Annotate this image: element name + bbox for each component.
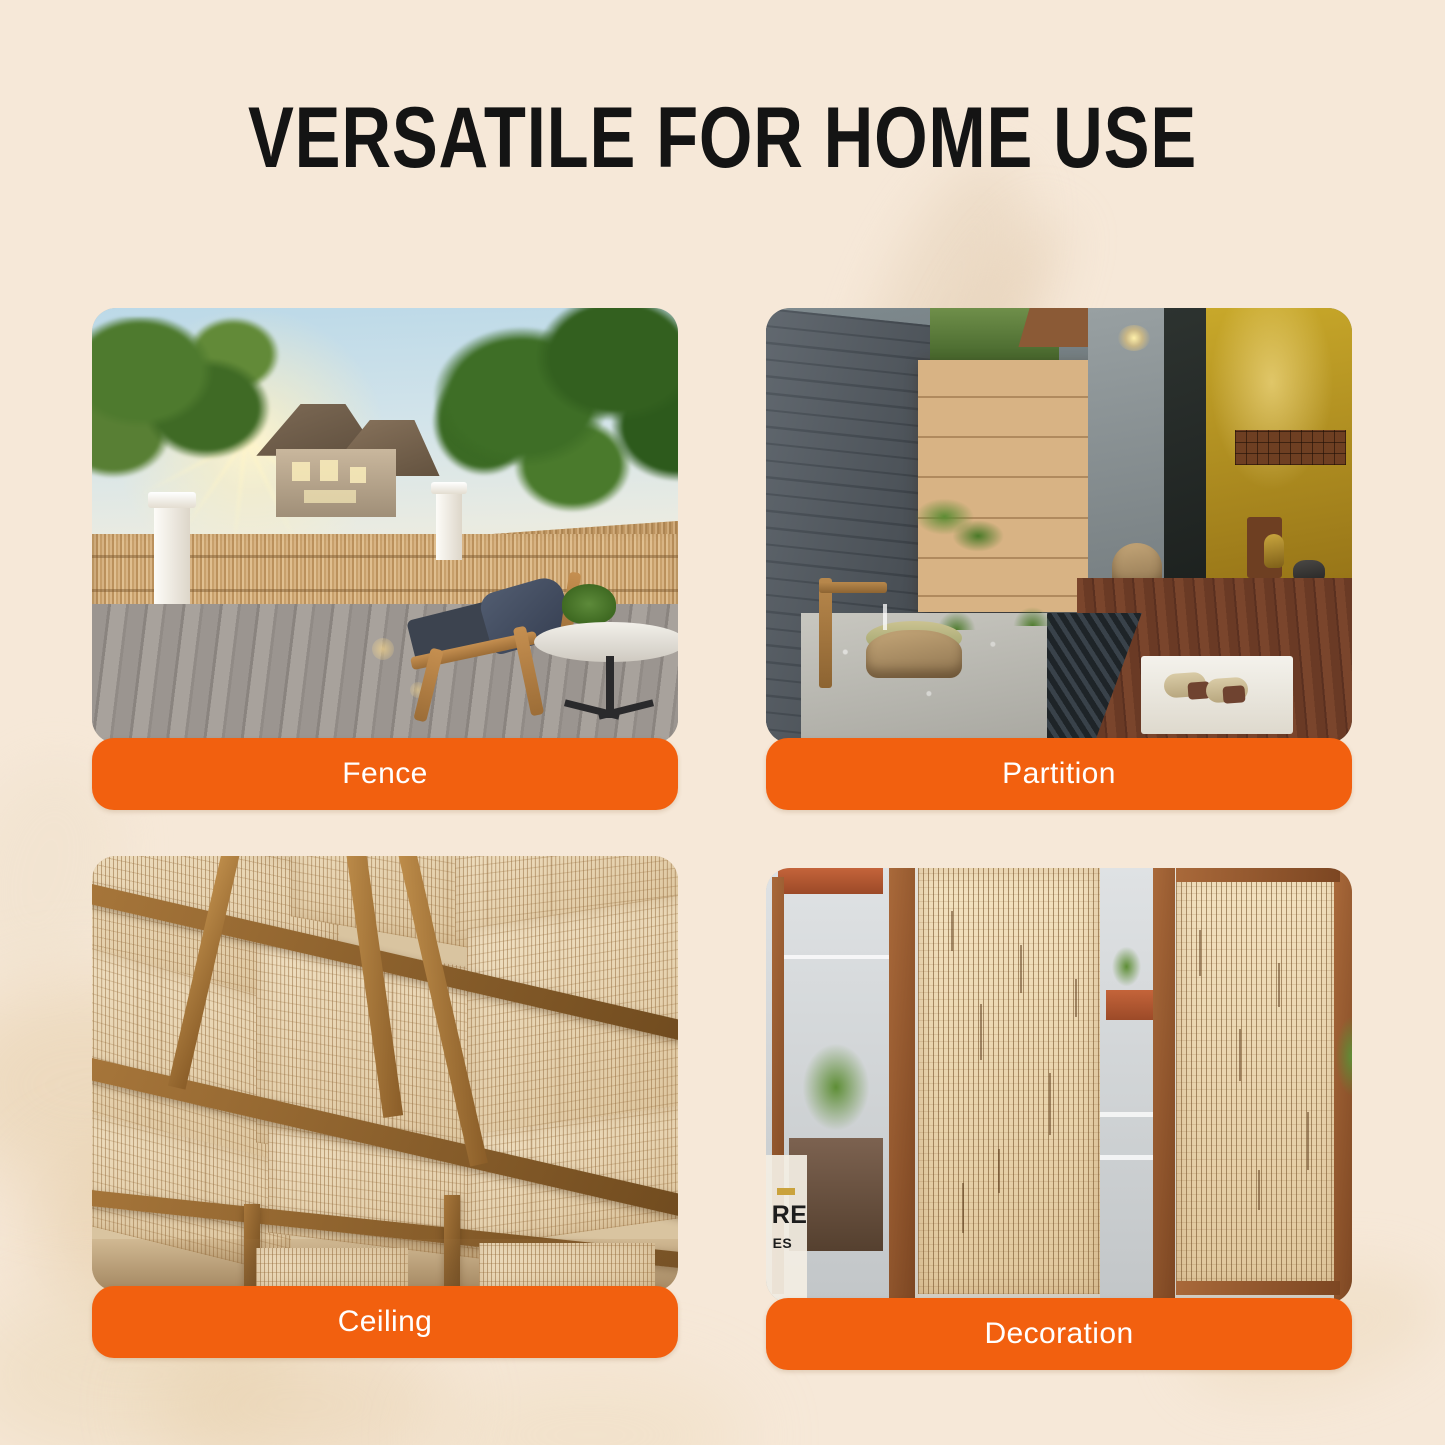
watermark: RE ES (766, 1155, 807, 1303)
card-label-decoration: Decoration (766, 1298, 1352, 1370)
card-label-text: Fence (342, 757, 427, 791)
card-ceiling[interactable]: Ceiling (92, 856, 678, 1291)
card-decoration[interactable]: RE ES Decoration (766, 868, 1352, 1303)
reed-blind (918, 868, 1100, 1294)
card-label-partition: Partition (766, 738, 1352, 810)
card-label-text: Ceiling (338, 1305, 433, 1339)
photo-ceiling (92, 856, 678, 1291)
page-title: VERSATILE FOR HOME USE (145, 95, 1301, 181)
photo-partition (766, 308, 1352, 743)
watermark-line2: ES (773, 1235, 793, 1251)
photo-decoration: RE ES (766, 868, 1352, 1303)
card-label-ceiling: Ceiling (92, 1286, 678, 1358)
watermark-line1: RE (772, 1201, 808, 1230)
photo-fence (92, 308, 678, 743)
card-label-text: Partition (1002, 757, 1116, 791)
card-label-text: Decoration (984, 1317, 1133, 1351)
card-fence[interactable]: Fence (92, 308, 678, 743)
card-partition[interactable]: Partition (766, 308, 1352, 743)
card-label-fence: Fence (92, 738, 678, 810)
